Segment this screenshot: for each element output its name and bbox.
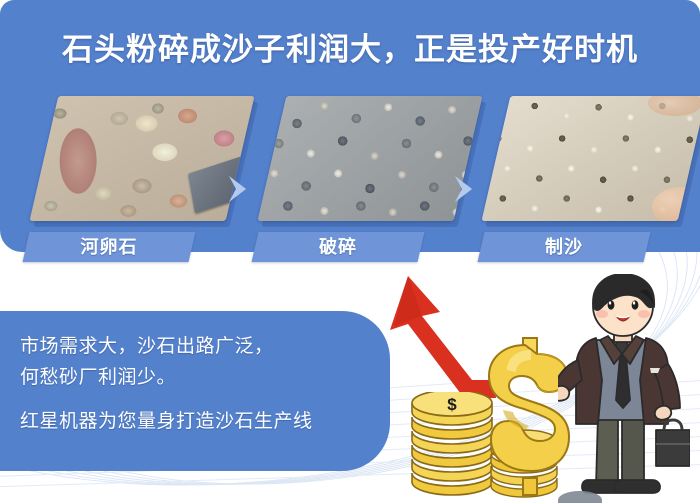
step-label-text: 破碎 — [255, 232, 421, 262]
pitch-text-panel: 市场需求大，沙石出路广泛， 何愁砂厂利润少。 红星机器为您量身打造沙石生产线 — [0, 311, 390, 471]
pitch-line-3: 红星机器为您量身打造沙石生产线 — [20, 406, 370, 437]
process-step-crushing[interactable] — [272, 96, 468, 221]
step-label-text: 制沙 — [481, 232, 647, 262]
page-title: 石头粉碎成沙子利润大，正是投产好时机 — [0, 24, 700, 69]
machine-silhouette — [558, 491, 602, 503]
step-label-text: 河卵石 — [26, 232, 192, 262]
finished-sand-photo — [482, 96, 700, 221]
step-label-river-pebble: 河卵石 — [23, 232, 196, 262]
svg-text:$: $ — [447, 395, 457, 414]
gold-coin-stack-icon: $ — [408, 392, 496, 500]
process-step-river-pebble[interactable] — [44, 96, 240, 221]
process-step-sand-making[interactable] — [496, 96, 692, 221]
businessman-with-briefcase-icon — [558, 274, 690, 503]
promotional-banner: 石头粉碎成沙子利润大，正是投产好时机 — [0, 0, 700, 503]
chevron-right-icon — [452, 174, 478, 204]
step-label-crushing: 破碎 — [252, 232, 425, 262]
chevron-right-icon — [226, 174, 252, 204]
pitch-line-1: 市场需求大，沙石出路广泛， — [20, 331, 370, 362]
river-pebble-photo — [30, 96, 255, 221]
crushed-gravel-photo — [258, 96, 483, 221]
step-label-sand-making: 制沙 — [478, 232, 651, 262]
pitch-line-2: 何愁砂厂利润少。 — [20, 362, 370, 393]
